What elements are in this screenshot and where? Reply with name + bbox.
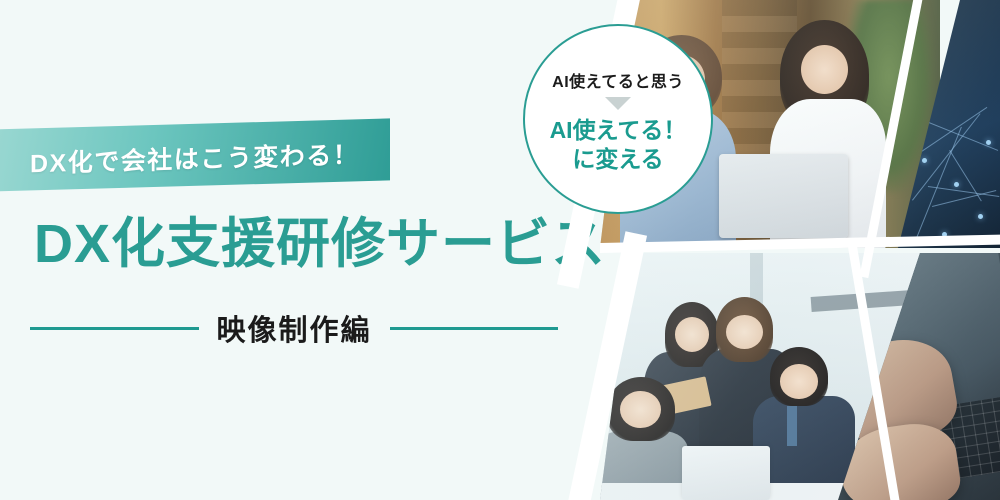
triangle-down-icon <box>605 97 631 110</box>
photo-person-face <box>675 317 709 352</box>
photo-person-face <box>801 45 849 95</box>
photo-person-face <box>780 364 817 399</box>
network-edge <box>932 190 996 207</box>
subtitle-rule-left <box>30 327 199 330</box>
network-node <box>954 182 959 187</box>
badge-main-text: AI使えてる！ に変える <box>550 116 687 174</box>
network-node <box>922 158 927 163</box>
badge-main-line-2: に変える <box>550 145 687 174</box>
badge-top-text: AI使えてると思う <box>552 68 684 92</box>
subtitle-row: 映像制作編 <box>30 305 558 351</box>
network-node <box>986 140 991 145</box>
subtitle-rule-right <box>390 327 559 330</box>
photo-laptop <box>682 446 770 500</box>
network-edge <box>949 150 982 201</box>
network-node <box>978 214 983 219</box>
badge-main-line-1: AI使えてる！ <box>550 116 687 145</box>
photo-laptop <box>719 154 848 238</box>
subtitle-text: 映像制作編 <box>217 307 372 349</box>
photo-necktie <box>787 406 797 446</box>
page-title: DX化支援研修サービス <box>34 215 606 274</box>
dx-training-service-banner: DX化で会社はこう変わる！ DX化支援研修サービス 映像制作編 AI使えてると思… <box>0 0 1000 500</box>
circle-badge: AI使えてると思う AI使えてる！ に変える <box>523 24 713 214</box>
